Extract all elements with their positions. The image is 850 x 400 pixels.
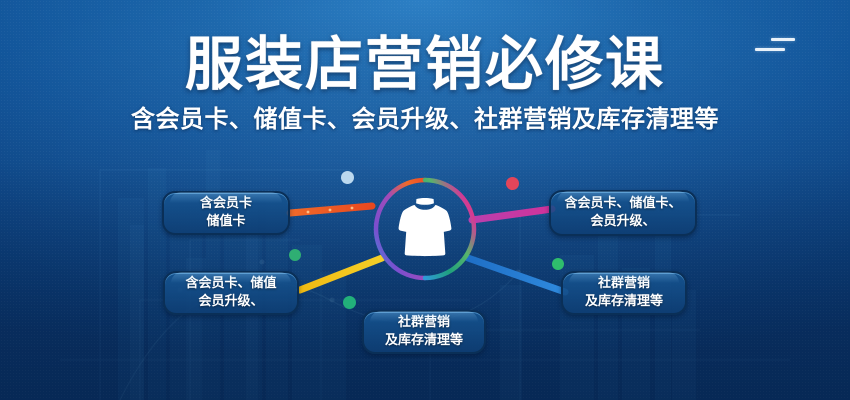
hub-node	[372, 176, 478, 282]
decorative-dot-green-right	[552, 258, 564, 270]
decorative-dot-green-left	[289, 249, 301, 261]
decorative-dot-lightblue	[341, 171, 354, 184]
node-bottom-left[interactable]: 含会员卡、储值 会员升级、	[163, 271, 299, 315]
headline-block: 服装店营销必修课 含会员卡、储值卡、会员升级、社群营销及库存清理等	[0, 34, 850, 134]
node-top-right[interactable]: 含会员卡、储值卡、 会员升级、	[549, 190, 697, 236]
node-bottom-center[interactable]: 社群营销 及库存清理等	[362, 310, 486, 354]
connector-bottom-left	[300, 258, 382, 290]
connector-top-right	[472, 209, 552, 220]
page-subtitle: 含会员卡、储值卡、会员升级、社群营销及库存清理等	[0, 105, 850, 134]
page-title: 服装店营销必修课	[0, 34, 850, 95]
decorative-dot-green-bottom	[343, 296, 356, 309]
decorative-dot-red	[506, 177, 519, 190]
connector-bottom-right	[468, 258, 565, 292]
marketing-banner: 服装店营销必修课 含会员卡、储值卡、会员升级、社群营销及库存清理等	[0, 0, 850, 400]
node-bottom-right[interactable]: 社群营销 及库存清理等	[561, 271, 687, 315]
node-top-left[interactable]: 含会员卡 储值卡	[162, 191, 290, 235]
sweater-icon	[399, 198, 452, 256]
